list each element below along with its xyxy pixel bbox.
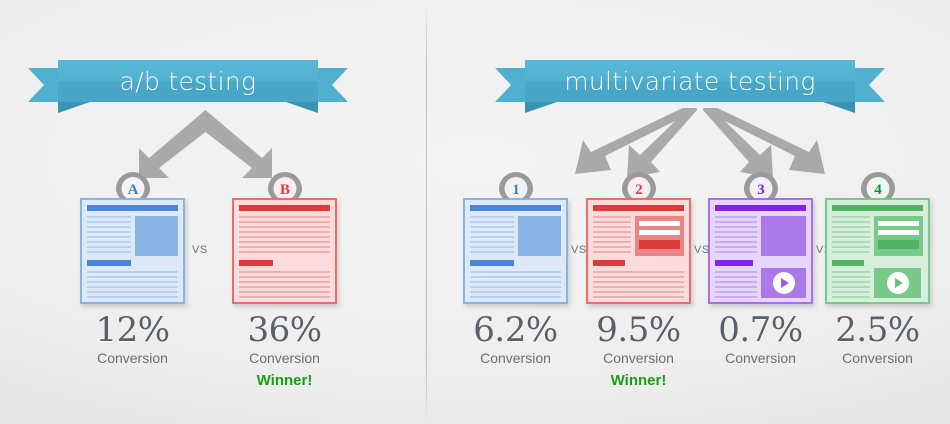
card-page-a	[87, 205, 178, 297]
card-header-bar	[832, 205, 923, 211]
pin-label-2: 2	[635, 182, 643, 198]
winner-badge-b: Winner!	[204, 372, 365, 389]
conversion-label-4: Conversion	[797, 350, 950, 366]
card-video-block[interactable]	[761, 268, 806, 298]
variant-card-4[interactable]	[825, 198, 930, 304]
ribbon-fold-right	[286, 102, 318, 113]
card-accent-bar	[239, 260, 273, 266]
section-divider	[426, 4, 427, 420]
conversion-percent-a: 12%	[52, 310, 213, 350]
card-accent-bar	[87, 260, 131, 266]
card-header-bar	[87, 205, 178, 211]
card-image-block	[635, 216, 684, 256]
card-header-bar	[715, 205, 806, 211]
conversion-percent-b: 36%	[204, 310, 365, 350]
ribbon-band: multivariate testing	[525, 60, 855, 102]
variant-card-2[interactable]	[586, 198, 691, 304]
card-text-left-top	[832, 216, 870, 256]
card-text-left	[593, 216, 631, 256]
conversion-label-b: Conversion	[204, 350, 365, 366]
variant-card-1[interactable]	[463, 198, 568, 304]
card-image-block	[518, 216, 561, 256]
card-text-bottom	[239, 271, 330, 301]
image-stripe	[878, 230, 919, 235]
vs-label-ab: vs	[192, 240, 208, 257]
image-stripe	[639, 230, 680, 235]
variant-card-b[interactable]	[232, 198, 337, 304]
card-text-bottom	[593, 271, 684, 301]
card-image-block	[874, 216, 923, 256]
image-stripe	[878, 221, 919, 226]
section-title-ab-testing: a/b testing	[58, 60, 318, 102]
card-text-left-bottom	[715, 271, 757, 301]
card-page-3	[715, 205, 806, 297]
play-icon[interactable]	[773, 272, 795, 294]
arrows-multivariate-testing	[545, 108, 855, 180]
pin-label-1: 1	[512, 182, 520, 198]
winner-badge-2: Winner!	[558, 372, 719, 389]
card-video-block[interactable]	[874, 268, 921, 298]
image-band	[639, 240, 680, 249]
pin-label-4: 4	[874, 182, 882, 198]
arrows-ab-testing	[138, 108, 273, 180]
card-accent-bar	[593, 260, 625, 266]
card-accent-bar	[832, 260, 864, 266]
card-text-top	[239, 216, 330, 256]
ribbon-band: a/b testing	[58, 60, 318, 102]
pin-label-a: A	[127, 182, 138, 198]
pin-label-b: B	[279, 182, 289, 198]
card-accent-bar	[715, 260, 753, 266]
conversion-label-a: Conversion	[52, 350, 213, 366]
card-header-bar	[593, 205, 684, 211]
card-text-left-top	[715, 216, 757, 256]
ribbon-ab-testing: a/b testing	[28, 60, 348, 110]
image-stripe	[639, 221, 680, 226]
card-header-bar	[470, 205, 561, 211]
card-text-bottom	[87, 271, 178, 301]
card-page-2	[593, 205, 684, 297]
section-title-multivariate-testing: multivariate testing	[525, 60, 855, 102]
image-band	[878, 240, 919, 249]
card-image-block	[761, 216, 806, 256]
conversion-percent-4: 2.5%	[797, 310, 950, 350]
card-text-left-bottom	[832, 271, 870, 301]
card-page-b	[239, 205, 330, 297]
play-icon[interactable]	[887, 272, 909, 294]
card-accent-bar	[470, 260, 514, 266]
pin-label-3: 3	[757, 182, 765, 198]
ribbon-multivariate-testing: multivariate testing	[495, 60, 885, 110]
card-page-1	[470, 205, 561, 297]
card-text-bottom	[470, 271, 561, 301]
vs-label-1-2: vs	[571, 240, 587, 257]
card-image-block	[135, 216, 178, 256]
card-text-left	[470, 216, 514, 256]
card-page-4	[832, 205, 923, 297]
variant-card-3[interactable]	[708, 198, 813, 304]
variant-card-a[interactable]	[80, 198, 185, 304]
infographic-canvas: a/b testing A	[0, 0, 950, 424]
card-text-left	[87, 216, 131, 256]
card-header-bar	[239, 205, 330, 211]
ribbon-fold-left	[58, 102, 90, 113]
